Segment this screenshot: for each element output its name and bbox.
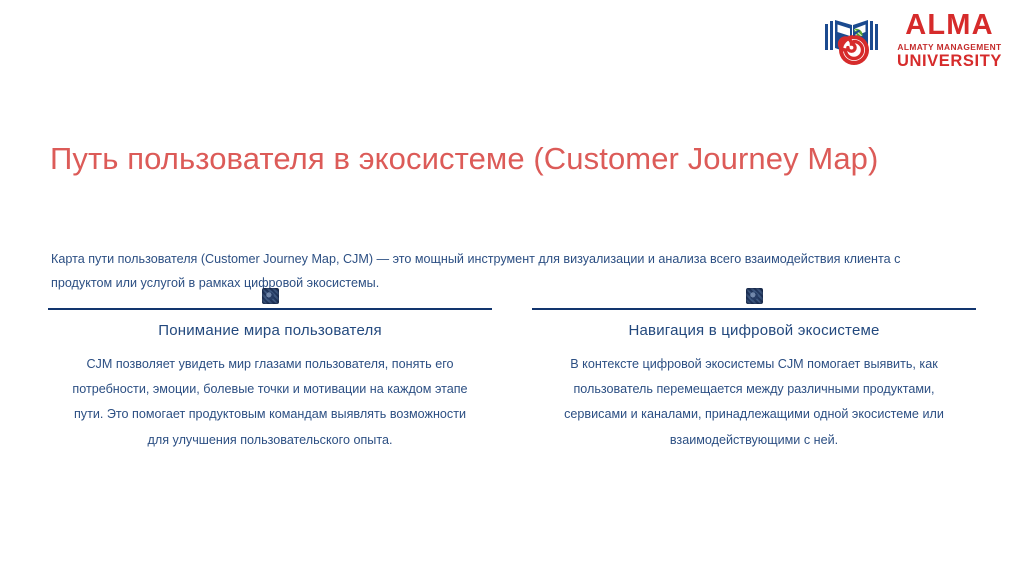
column-body-text: В контексте цифровой экосистемы CJM помо… — [548, 352, 961, 453]
logo-wordmark: ALMA ALMATY MANAGEMENT UNIVERSITY — [897, 11, 1002, 70]
pixel-thumbnail-icon — [262, 288, 279, 304]
column-heading: Понимание мира пользователя — [158, 322, 382, 339]
column-divider-rule — [48, 308, 492, 310]
column-heading: Навигация в цифровой экосистеме — [628, 322, 879, 339]
logo-university-text: UNIVERSITY — [897, 53, 1002, 70]
column-navigation-digital-ecosystem: Навигация в цифровой экосистеме В контек… — [532, 288, 976, 453]
pixel-thumbnail-icon — [746, 288, 763, 304]
logo-subtitle-text: ALMATY MANAGEMENT — [897, 43, 1001, 51]
column-understanding-user-world: Понимание мира пользователя CJM позволяе… — [48, 288, 492, 453]
page-title: Путь пользователя в экосистеме (Customer… — [50, 139, 930, 179]
alma-book-apple-logo-icon — [823, 12, 885, 68]
two-column-section: Понимание мира пользователя CJM позволяе… — [48, 288, 976, 453]
logo-alma-text: ALMA — [905, 11, 994, 40]
alma-university-logo: ALMA ALMATY MANAGEMENT UNIVERSITY — [823, 11, 1002, 70]
column-divider-rule — [532, 308, 976, 310]
slide-canvas: ALMA ALMATY MANAGEMENT UNIVERSITY Путь п… — [0, 0, 1024, 574]
column-body-text: CJM позволяет увидеть мир глазами пользо… — [64, 352, 477, 453]
